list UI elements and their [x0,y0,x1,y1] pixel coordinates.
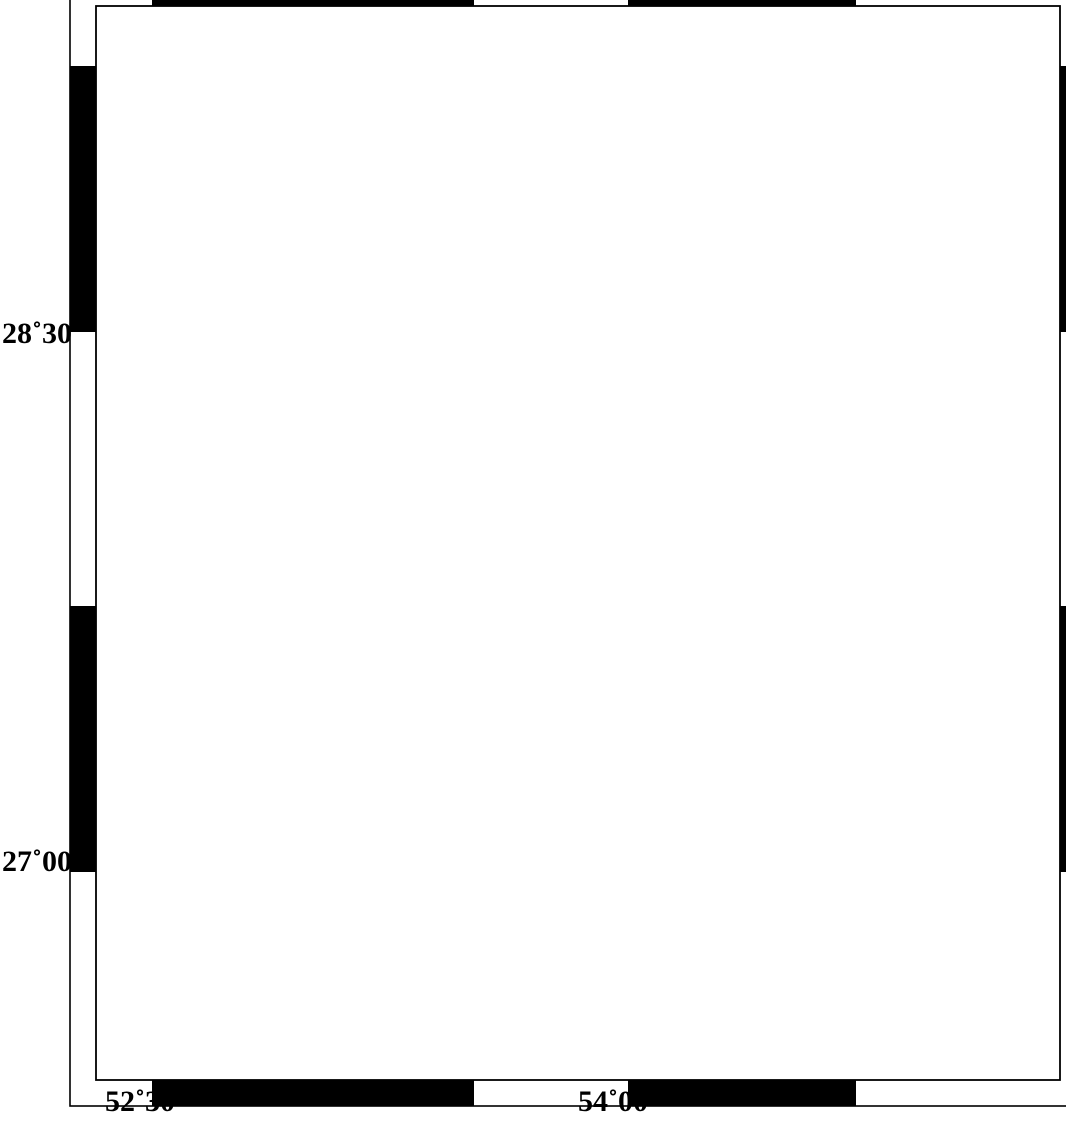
frame-right-tick-1 [1060,606,1066,872]
longitude-tick-label-54-00: 54˚00' [578,1085,656,1119]
frame-outer-band [70,0,1066,1106]
latitude-tick-label-28-30: 28˚30' [2,317,80,351]
map-svg: 60 km Magnitude34567 [0,0,1066,1124]
map-frame [70,0,1066,1106]
frame-left-tick-0 [70,66,96,332]
frame-top-tick-0 [152,0,474,6]
frame-right-tick-0 [1060,66,1066,332]
frame-bottom-tick-1 [628,1080,856,1106]
latitude-tick-label-27-00: 27˚00' [2,845,80,879]
map-canvas: 60 km Magnitude34567 28˚30' 27˚00' 52˚30… [0,0,1066,1124]
longitude-tick-label-52-30: 52˚30' [105,1085,183,1119]
frame-bottom-tick-0 [152,1080,474,1106]
frame-top-tick-1 [628,0,856,6]
frame-left-tick-1 [70,606,96,872]
